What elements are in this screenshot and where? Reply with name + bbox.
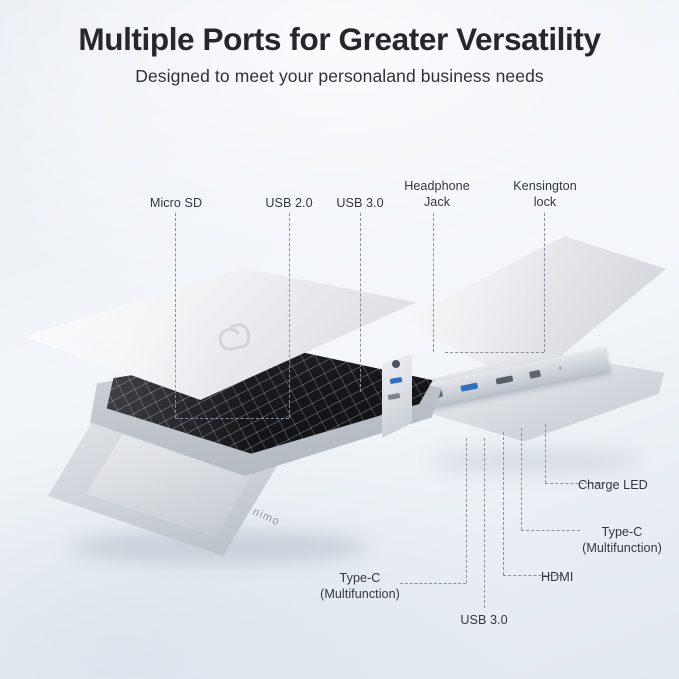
laptop-front: nimo — [24, 268, 454, 558]
leader-line-usb3-bottom — [484, 438, 485, 608]
leader-line-typec-right-vertical — [521, 428, 522, 530]
product-callout-image: Multiple Ports for Greater Versatility D… — [0, 0, 679, 679]
callout-label-usb3-top: USB 3.0 — [336, 195, 383, 211]
port-headphone-jack — [392, 360, 400, 368]
brand-logo-text: nimo — [251, 506, 282, 529]
page-subtitle: Designed to meet your personaland busine… — [0, 66, 679, 87]
callout-label-hdmi: HDMI — [541, 569, 573, 585]
leader-line-kensington-horizontal — [445, 352, 544, 353]
port-type-c-right — [529, 370, 541, 379]
leader-line-typec-left-horizontal — [400, 583, 466, 584]
callout-label-usb3-bottom: USB 3.0 — [460, 612, 507, 628]
leader-line-headphone-jack — [433, 213, 434, 352]
page-title: Multiple Ports for Greater Versatility — [0, 22, 679, 56]
charge-led-indicator — [558, 366, 562, 370]
callout-label-typec-right: Type-C (Multifunction) — [582, 524, 662, 556]
header: Multiple Ports for Greater Versatility D… — [0, 22, 679, 87]
port-hdmi — [496, 375, 514, 384]
leader-line-usb2 — [289, 213, 290, 418]
leader-line-microsd — [175, 213, 176, 418]
leader-line-typec-right-horizontal — [521, 530, 580, 531]
leader-line-hdmi-vertical — [503, 432, 504, 575]
callout-label-charge-led: Charge LED — [578, 477, 648, 493]
leader-line-typec-left-vertical — [466, 438, 467, 583]
callout-label-typec-left: Type-C (Multifunction) — [320, 570, 400, 602]
callout-label-usb2: USB 2.0 — [265, 195, 312, 211]
callout-label-kensington-lock: Kensington lock — [513, 178, 577, 210]
port-usb3 — [460, 383, 478, 392]
leader-line-usb3-top — [360, 213, 361, 392]
callout-label-microsd: Micro SD — [150, 195, 202, 211]
leader-line-charge-led-vertical — [545, 424, 546, 483]
leader-line-microsd-usb2-tie — [175, 418, 289, 419]
leader-line-kensington-vertical — [544, 213, 545, 352]
callout-label-headphone-jack: Headphone Jack — [404, 178, 470, 210]
